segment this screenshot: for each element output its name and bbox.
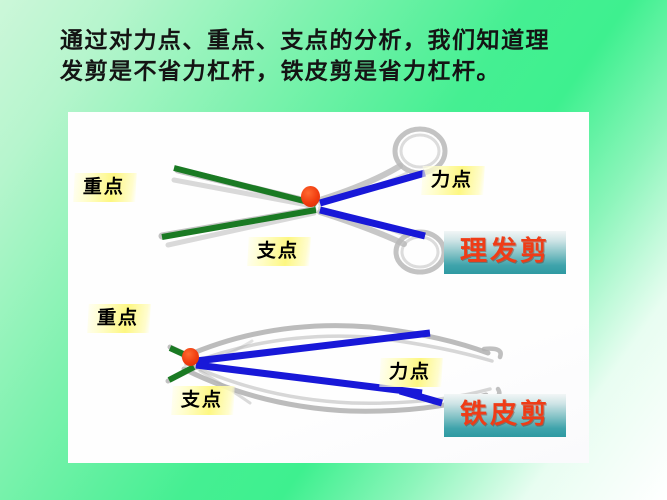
name-plate-hair-scissors: 理发剪: [444, 231, 566, 274]
slide-canvas: 通过对力点、重点、支点的分析，我们知道理 发剪是不省力杠杆，铁皮剪是省力杠杆。: [0, 0, 667, 500]
fulcrum-dot-hair-scissors: [301, 186, 320, 207]
label-fulcrum-tin: 支点: [171, 386, 235, 415]
name-plate-tin-snips: 铁皮剪: [444, 394, 566, 437]
label-weight-point-tin: 重点: [87, 304, 151, 333]
label-fulcrum-hair: 支点: [247, 237, 311, 266]
label-effort-point-tin: 力点: [379, 358, 443, 387]
fulcrum-dot-tin-snips: [182, 348, 199, 366]
label-weight-point-hair: 重点: [73, 173, 137, 202]
label-effort-point-hair: 力点: [421, 166, 485, 195]
title-line-2: 发剪是不省力杠杆，铁皮剪是省力杠杆。: [59, 57, 620, 88]
title-line-1: 通过对力点、重点、支点的分析，我们知道理: [59, 26, 620, 57]
page-title: 通过对力点、重点、支点的分析，我们知道理 发剪是不省力杠杆，铁皮剪是省力杠杆。: [60, 26, 620, 88]
